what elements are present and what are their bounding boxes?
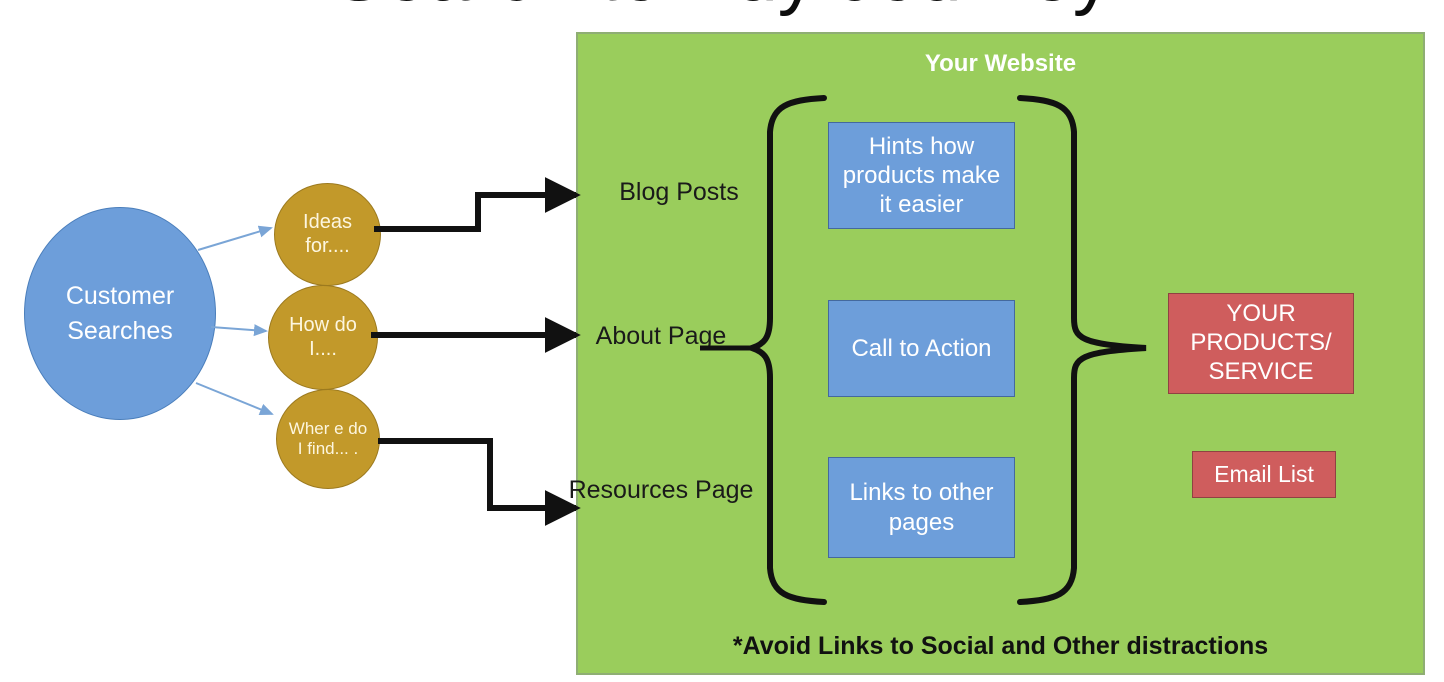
node-query-ideas-for: Ideas for....: [274, 183, 381, 286]
page-label-resources-page: Resources Page: [566, 474, 756, 506]
node-customer-searches: Customer Searches: [24, 207, 216, 420]
node-query-how-do-i-label: How do I....: [269, 314, 377, 360]
arrow-ideas-to-blog-posts: [374, 195, 576, 229]
node-query-how-do-i: How do I....: [268, 285, 378, 390]
outcome-box-email-list: Email List: [1192, 451, 1336, 498]
node-query-ideas-for-label: Ideas for....: [275, 211, 380, 257]
arrow-where-to-resources-page: [378, 441, 576, 508]
slide-canvas: Search to Buy Journey Your Website *Avoi…: [0, 0, 1444, 682]
node-query-where-do-i-find-label: Wher e do I find... .: [277, 419, 379, 458]
website-panel-title: Your Website: [578, 50, 1423, 78]
outcome-box-your-products-service: YOUR PRODUCTS/ SERVICE: [1168, 293, 1354, 394]
node-query-where-do-i-find: Wher e do I find... .: [276, 389, 380, 489]
avoid-links-note: *Avoid Links to Social and Other distrac…: [578, 632, 1423, 661]
page-label-blog-posts: Blog Posts: [584, 176, 774, 208]
node-customer-searches-label: Customer Searches: [25, 279, 215, 348]
page-title: Search to Buy Journey: [0, 0, 1444, 19]
page-label-about-page: About Page: [566, 320, 756, 352]
content-box-links-to-other-pages: Links to other pages: [828, 457, 1015, 558]
content-box-hints: Hints how products make it easier: [828, 122, 1015, 229]
content-box-call-to-action: Call to Action: [828, 300, 1015, 397]
